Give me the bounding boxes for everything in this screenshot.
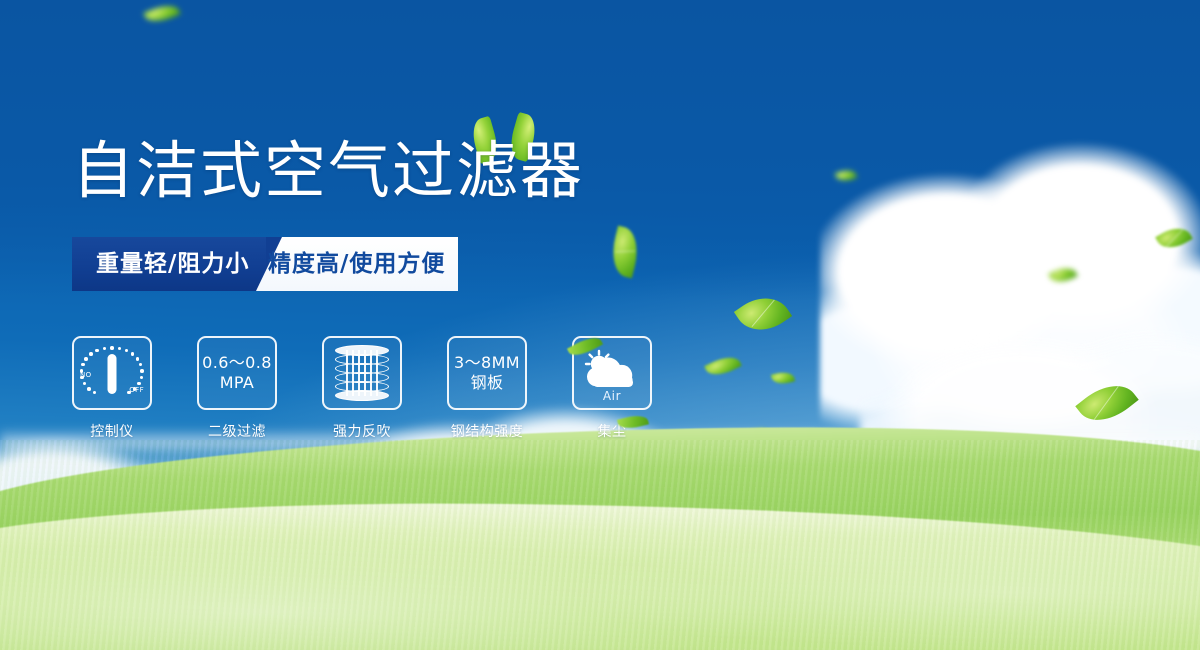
feature-label: 二级过滤 (208, 421, 266, 441)
filter-cartridge-icon (335, 345, 389, 401)
subtitle-right-text: 精度高/使用方便 (268, 237, 445, 291)
feature-label: 控制仪 (90, 421, 134, 441)
dial-needle (108, 354, 117, 394)
feature-label: 钢结构强度 (451, 421, 524, 441)
feature-item-control-dial[interactable]: NO OFF (72, 336, 152, 441)
pressure-text-icon: 0.6～0.8 MPA (202, 353, 272, 392)
subtitle-left-text: 重量轻/阻力小 (96, 237, 249, 291)
feature-icon-box: Air (572, 336, 652, 410)
feature-item-pressure[interactable]: 0.6～0.8 MPA 二级过滤 (197, 336, 277, 441)
feature-icon-box: NO OFF (72, 336, 152, 410)
feature-list: NO OFF (72, 336, 652, 441)
feature-item-backflush[interactable]: 强力反吹 (322, 336, 402, 441)
product-hero-banner: 自洁式空气过滤器 重量轻/阻力小 精度高/使用方便 NO OFF (0, 0, 1200, 650)
air-cloud-icon: Air (580, 344, 644, 402)
steel-line-1: 3～8MM (454, 353, 520, 372)
feature-icon-box: 3～8MM 钢板 (447, 336, 527, 410)
grass-highlight (0, 460, 1200, 650)
grass-field (0, 420, 1200, 650)
control-dial-icon: NO OFF (79, 342, 145, 404)
page-title: 自洁式空气过滤器 (72, 140, 584, 202)
pressure-line-1: 0.6～0.8 (202, 353, 272, 372)
feature-item-dust-collection[interactable]: Air 集尘 (572, 336, 652, 441)
steel-plate-text-icon: 3～8MM 钢板 (454, 353, 520, 392)
pressure-line-2: MPA (202, 373, 272, 393)
subtitle-bar: 重量轻/阻力小 精度高/使用方便 (72, 237, 458, 291)
dial-label-off: OFF (129, 386, 144, 394)
feature-icon-box: 0.6～0.8 MPA (197, 336, 277, 410)
feature-icon-box (322, 336, 402, 410)
feature-label: 强力反吹 (333, 421, 391, 441)
air-cloud-label: Air (580, 389, 644, 403)
steel-line-2: 钢板 (454, 373, 520, 393)
feature-item-steel[interactable]: 3～8MM 钢板 钢结构强度 (447, 336, 527, 441)
